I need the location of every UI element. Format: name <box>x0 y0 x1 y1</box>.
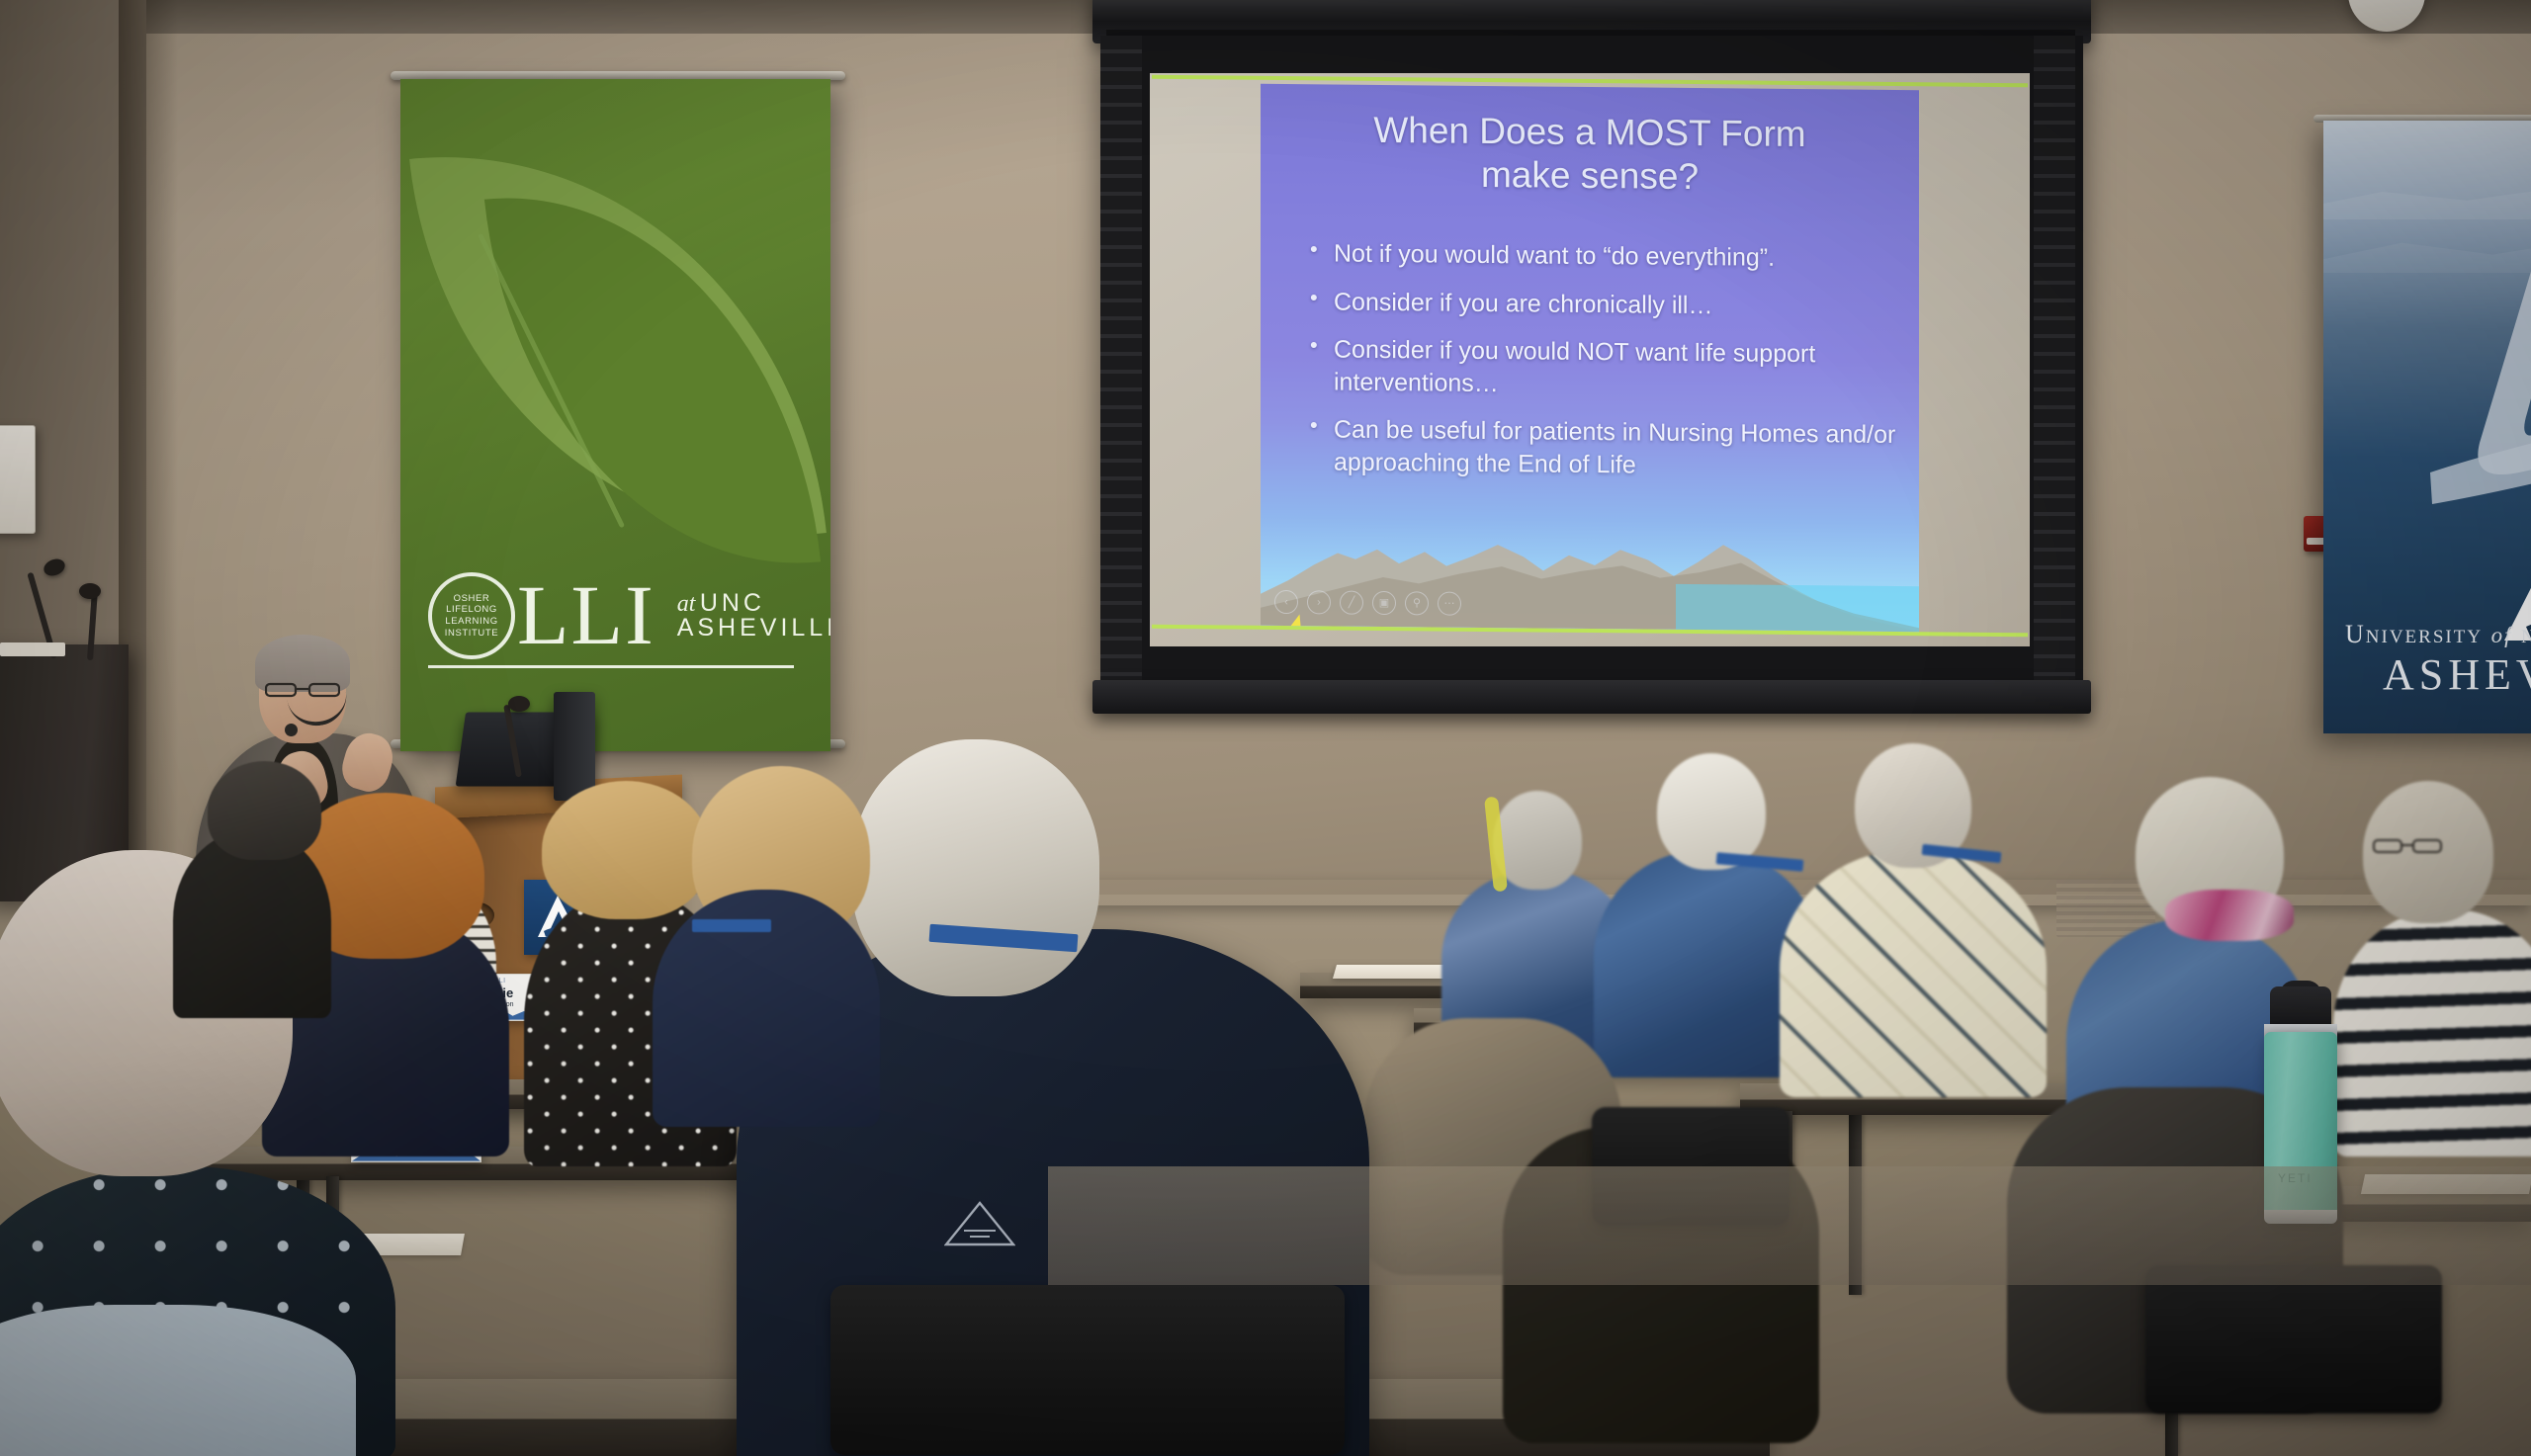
powerpoint-slide[interactable]: When Does a MOST Form make sense? Not if… <box>1261 84 1919 632</box>
slide-mountain-graphic <box>1261 529 1919 632</box>
screen-tension-edge-left <box>1100 36 1142 688</box>
audience-glasses-icon <box>2373 838 2442 854</box>
podium-monitor[interactable] <box>554 692 595 801</box>
projected-image-area: When Does a MOST Form make sense? Not if… <box>1152 75 2028 638</box>
floor-strip <box>1048 1166 2531 1285</box>
slide-bullet-item: Consider if you would NOT want life supp… <box>1310 334 1897 404</box>
olli-underline <box>428 665 794 668</box>
presenter-toolbar[interactable]: ‹ › ╱ ▣ ⚲ ⋯ <box>1274 590 1461 616</box>
olli-banner: OSHER LIFELONG LEARNING INSTITUTE LLI at… <box>400 79 830 751</box>
previous-slide-icon[interactable]: ‹ <box>1274 590 1298 614</box>
audience-member-hair-blonde <box>542 781 710 919</box>
pen-icon[interactable]: ╱ <box>1340 591 1363 615</box>
bottle-cap <box>2270 986 2331 1028</box>
pfg-brand-logo-icon <box>944 1201 1015 1246</box>
patterned-scarf <box>2165 890 2294 941</box>
slide-title-line-2: make sense? <box>1286 151 1893 201</box>
olli-wordmark: LLI <box>517 579 655 652</box>
more-options-icon[interactable]: ⋯ <box>1438 592 1461 616</box>
unca-state-word: NORTH CAROLINA <box>2521 627 2531 647</box>
chair-back <box>2145 1265 2442 1413</box>
microphone-head-2 <box>79 583 101 599</box>
light-blue-fleece-collar <box>0 1305 356 1456</box>
olli-circle-line-4: INSTITUTE <box>445 628 498 640</box>
slide-bullet-item: Can be useful for patients in Nursing Ho… <box>1310 414 1897 484</box>
slide-bullet-list: Not if you would want to “do everything”… <box>1261 237 1919 483</box>
av-white-device <box>0 642 65 656</box>
chair-back <box>830 1285 1345 1455</box>
presenter-view-icon[interactable]: ▣ <box>1372 591 1396 615</box>
audience-member-body-striped <box>2333 909 2531 1156</box>
wall-av-panel-icon <box>0 425 36 534</box>
unca-banner-text: UNIVERSITY of NORTH CAROLINA ASHEVILLE <box>2345 620 2531 700</box>
audience-member-body-plaid <box>1780 850 2047 1097</box>
olli-asheville-text: ASHEVILLE <box>677 616 830 642</box>
unca-of-word: of <box>2491 623 2513 647</box>
screen-bottom-bar <box>1092 680 2091 714</box>
olli-circle-line-1: OSHER <box>454 593 490 605</box>
slide-title-line-1: When Does a MOST Form <box>1286 108 1893 157</box>
unca-university-word: U <box>2345 620 2366 648</box>
slide-title: When Does a MOST Form make sense? <box>1261 108 1919 201</box>
lanyard <box>692 919 771 932</box>
olli-at-text: at <box>677 591 696 617</box>
classroom-photo-scene: OSHER LIFELONG LEARNING INSTITUTE LLI at… <box>0 0 2531 1456</box>
presenter-headset-mic-icon <box>285 724 298 736</box>
unca-asheville-word: ASHEVILLE <box>2383 649 2531 700</box>
audience-member-head <box>1657 753 1766 870</box>
olli-unc-text: UNC <box>700 589 765 617</box>
slide-bullet-item: Not if you would want to “do everything”… <box>1310 238 1897 276</box>
zoom-icon[interactable]: ⚲ <box>1405 591 1429 615</box>
next-slide-icon[interactable]: › <box>1307 590 1331 614</box>
audience-member-head <box>208 761 321 860</box>
handout-paper <box>1333 965 1455 979</box>
slide-bullet-item: Consider if you are chronically ill… <box>1310 286 1897 323</box>
unca-university-rest: NIVERSITY <box>2366 627 2483 647</box>
audience-member-head-white-hair <box>852 739 1099 996</box>
screen-tension-edge-right <box>2034 36 2075 688</box>
unca-banner: UNIVERSITY of NORTH CAROLINA ASHEVILLE <box>2323 121 2531 733</box>
olli-o-ring: OSHER LIFELONG LEARNING INSTITUTE <box>428 572 515 659</box>
olli-circle-line-3: LEARNING <box>445 616 497 628</box>
olli-circle-line-2: LIFELONG <box>446 604 497 616</box>
olli-logo: OSHER LIFELONG LEARNING INSTITUTE LLI at… <box>428 572 804 668</box>
projection-screen-assembly: When Does a MOST Form make sense? Not if… <box>1092 0 2091 710</box>
audience-member-head <box>1493 791 1582 890</box>
podium-microphone-head <box>508 696 530 712</box>
